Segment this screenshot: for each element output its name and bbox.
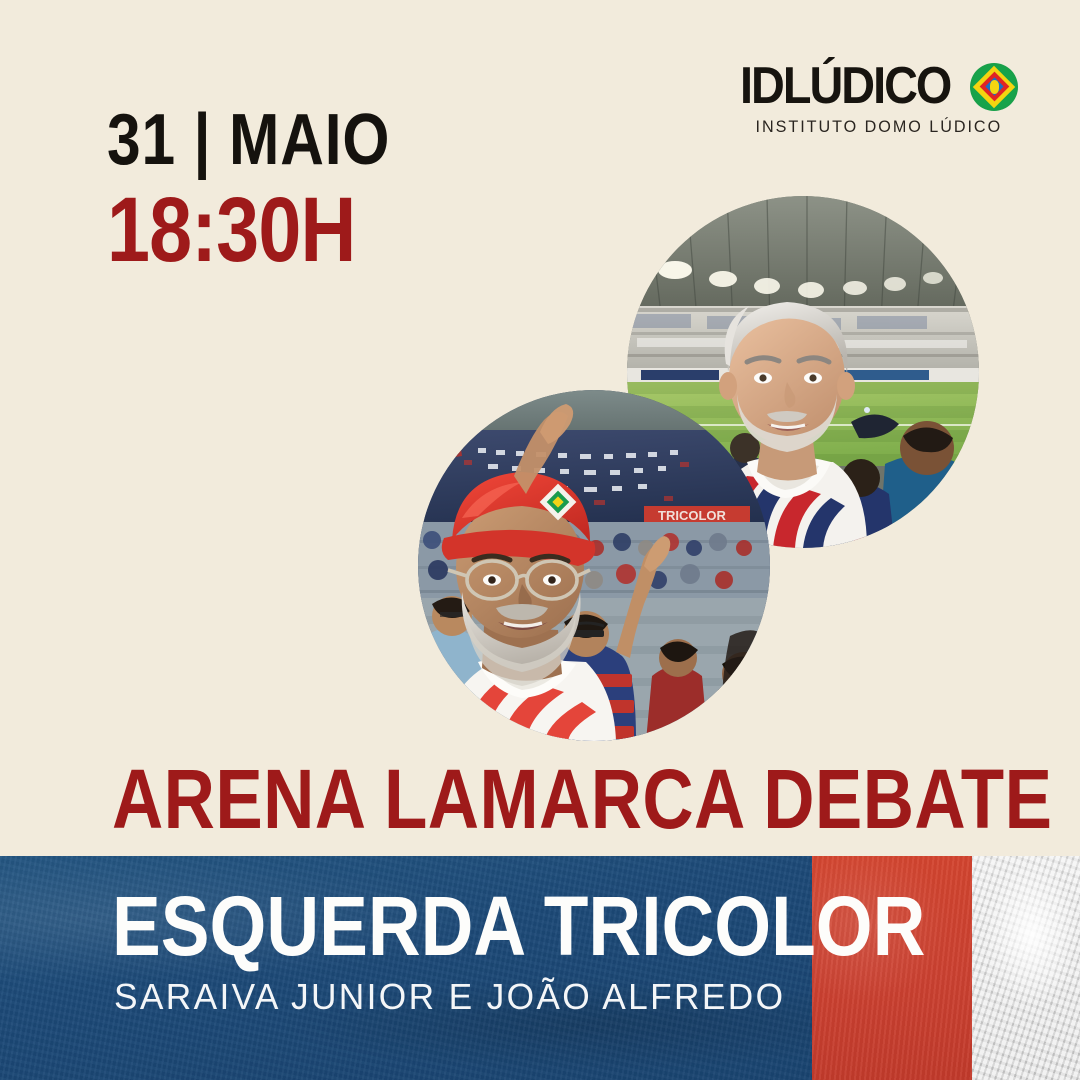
event-time: 18:30H (107, 184, 390, 276)
logo-wordmark-row: IDLÚDICO (740, 62, 1018, 111)
bottom-color-bands (0, 856, 1080, 1080)
logo-wordmark-text: IDLÚDICO (740, 62, 950, 111)
svg-text:TRICOLOR: TRICOLOR (658, 508, 726, 523)
svg-text:0: 0 (420, 669, 436, 700)
logo-tagline: INSTITUTO DOMO LÚDICO (756, 118, 1003, 137)
event-headline: ARENA LAMARCA DEBATE (112, 757, 1052, 841)
event-datetime: 31 | MAIO 18:30H (107, 104, 444, 276)
idludico-circular-emblem-icon (970, 63, 1018, 111)
event-date: 31 | MAIO (107, 104, 390, 176)
band-white (972, 856, 1080, 1080)
photo-bearded-man-red-cap: TRICOLOR (418, 390, 770, 741)
band-red (812, 856, 972, 1080)
brand-logo: IDLÚDICO INSTITUTO DOMO LÚDICO (740, 62, 1018, 137)
band-blue (0, 856, 812, 1080)
event-flyer: IDLÚDICO INSTITUTO DOMO LÚDICO 31 | MAIO… (0, 0, 1080, 1080)
